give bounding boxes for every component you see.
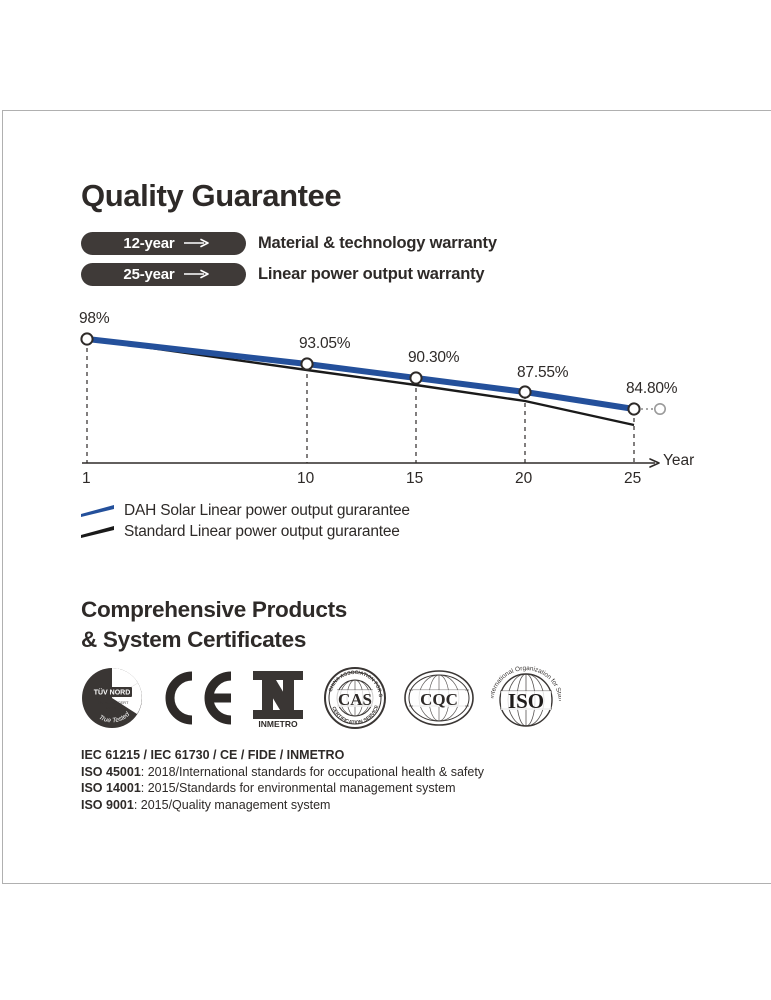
cert-line-3-rest: : 2015/Quality management system: [134, 798, 331, 812]
cert-line-0: IEC 61215 / IEC 61730 / CE / FIDE / INME…: [81, 747, 701, 764]
cas-seal-logo: CHINA ASSOCIATION FOR STANDARD CERTIFICA…: [323, 666, 387, 730]
chart-tick-15: 15: [406, 470, 423, 488]
cert-line-2: ISO 14001: 2015/Standards for environmen…: [81, 780, 701, 797]
chart-x-axis-title: Year: [663, 452, 694, 470]
chart-value-label-25: 84.80%: [626, 380, 677, 398]
chart-tick-25: 25: [624, 470, 641, 488]
svg-text:ISO: ISO: [508, 689, 544, 713]
cert-line-3: ISO 9001: 2015/Quality management system: [81, 797, 701, 814]
warranty-text-12-year: Material & technology warranty: [258, 234, 497, 253]
arrow-right-icon: [184, 238, 210, 248]
chart-tick-10: 10: [297, 470, 314, 488]
cert-line-2-bold: ISO 14001: [81, 781, 141, 795]
tuv-nord-logo: TÜV NORD TÜV NORD CERT GmbH True Tested: [81, 666, 143, 730]
svg-text:CAS: CAS: [338, 690, 372, 709]
arrow-right-icon: [184, 269, 210, 279]
cert-line-3-bold: ISO 9001: [81, 798, 134, 812]
warranty-row-12-year: 12-year Material & technology warranty: [81, 231, 497, 255]
badge-25-year-label: 25-year: [123, 266, 174, 283]
warranty-row-25-year: 25-year Linear power output warranty: [81, 262, 484, 286]
chart-marker-20: [519, 386, 530, 397]
svg-text:TÜV NORD: TÜV NORD: [94, 688, 131, 697]
legend-swatch-blue-icon: [81, 505, 114, 517]
iso-logo: International Organization for Standardi…: [491, 665, 561, 731]
chart-marker-15: [410, 372, 421, 383]
page-title: Quality Guarantee: [81, 178, 341, 214]
chart-tick-1: 1: [82, 470, 91, 488]
chart-value-label-1: 98%: [79, 310, 109, 328]
svg-text:CQC: CQC: [420, 690, 458, 709]
chart-marker-25: [628, 403, 639, 414]
chart-droplines: [87, 340, 634, 463]
legend-label-standard: Standard Linear power output gurarantee: [124, 523, 400, 541]
svg-text:GmbH: GmbH: [106, 705, 118, 710]
chart-legend: DAH Solar Linear power output gurarantee…: [81, 500, 501, 542]
ce-mark-logo: [159, 670, 233, 726]
legend-swatch-black-icon: [81, 526, 114, 538]
legend-item-standard: Standard Linear power output gurarantee: [81, 521, 501, 542]
cert-line-1-rest: : 2018/International standards for occup…: [141, 765, 484, 779]
legend-label-dah-solar: DAH Solar Linear power output gurarantee: [124, 502, 410, 520]
badge-25-year: 25-year: [81, 263, 246, 286]
chart-value-label-20: 87.55%: [517, 364, 568, 382]
chart-tick-20: 20: [515, 470, 532, 488]
certificates-title: Comprehensive Products & System Certific…: [81, 595, 347, 655]
cert-line-2-rest: : 2015/Standards for environmental manag…: [141, 781, 456, 795]
certificates-title-line1: Comprehensive Products: [81, 595, 347, 625]
chart-value-label-15: 90.30%: [408, 349, 459, 367]
chart-value-label-10: 93.05%: [299, 335, 350, 353]
warranty-text-25-year: Linear power output warranty: [258, 265, 484, 284]
cert-line-1: ISO 45001: 2018/International standards …: [81, 764, 701, 781]
cert-line-0-bold: IEC 61215 / IEC 61730 / CE / FIDE / INME…: [81, 748, 344, 762]
badge-12-year-label: 12-year: [123, 235, 174, 252]
chart-marker-ghost: [655, 404, 665, 414]
svg-text:INMETRO: INMETRO: [258, 719, 298, 729]
chart-marker-1: [81, 333, 92, 344]
certificates-title-line2: & System Certificates: [81, 625, 347, 655]
certificate-standards-list: IEC 61215 / IEC 61730 / CE / FIDE / INME…: [81, 747, 701, 813]
badge-12-year: 12-year: [81, 232, 246, 255]
legend-item-dah-solar: DAH Solar Linear power output gurarantee: [81, 500, 501, 521]
series-standard-line: [87, 339, 634, 425]
inmetro-logo: INMETRO: [249, 667, 307, 729]
cqc-logo: CQC: [403, 669, 475, 727]
cert-line-1-bold: ISO 45001: [81, 765, 141, 779]
chart-marker-10: [301, 358, 312, 369]
certificate-logos: TÜV NORD TÜV NORD CERT GmbH True Tested …: [81, 660, 681, 736]
